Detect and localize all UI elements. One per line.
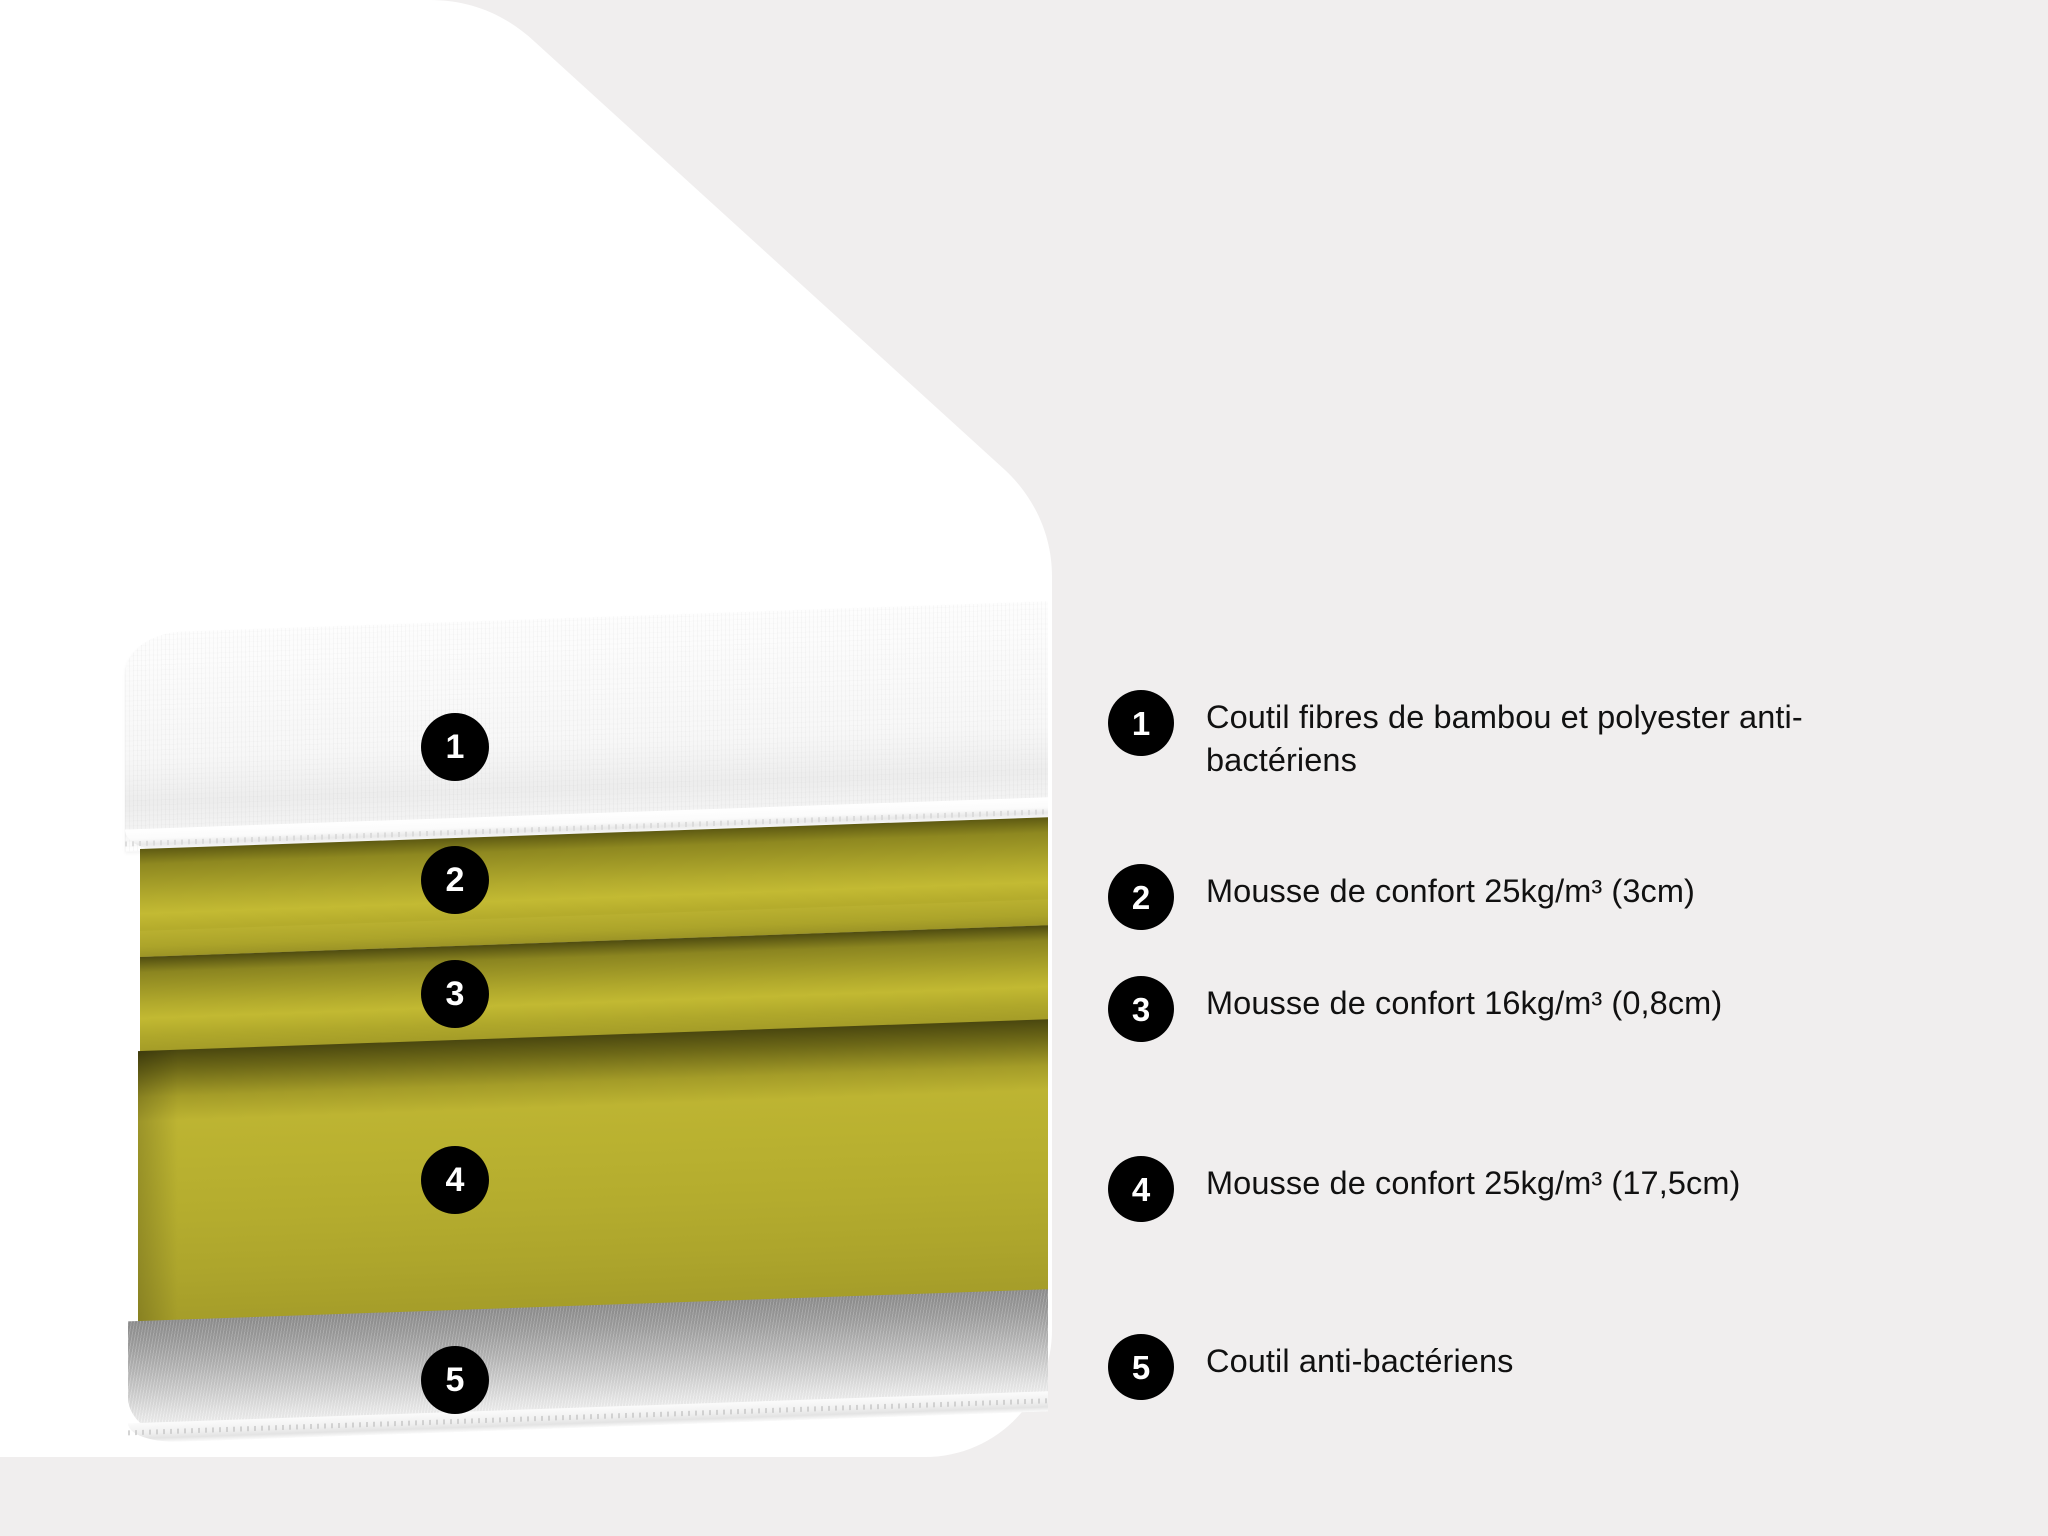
legend-badge-2: 2 <box>1108 864 1174 930</box>
mattress-illustration <box>0 0 1048 1536</box>
legend-badge-4: 4 <box>1108 1156 1174 1222</box>
legend-item-4: 4 Mousse de confort 25kg/m³ (17,5cm) <box>1108 1156 1740 1222</box>
mattress-badge-3: 3 <box>421 960 489 1028</box>
legend-badge-5: 5 <box>1108 1334 1174 1400</box>
mattress-badge-4: 4 <box>421 1146 489 1214</box>
legend-item-2: 2 Mousse de confort 25kg/m³ (3cm) <box>1108 864 1695 930</box>
legend-label-5: Coutil anti-bactériens <box>1206 1334 1514 1383</box>
mattress-badge-1: 1 <box>421 713 489 781</box>
legend-badge-3: 3 <box>1108 976 1174 1042</box>
legend-label-4: Mousse de confort 25kg/m³ (17,5cm) <box>1206 1156 1740 1205</box>
legend-item-1: 1 Coutil fibres de bambou et polyester a… <box>1108 690 1946 782</box>
mattress-badge-2: 2 <box>421 846 489 914</box>
legend-label-3: Mousse de confort 16kg/m³ (0,8cm) <box>1206 976 1722 1025</box>
mattress-layer-1-top-cover <box>125 600 1048 852</box>
legend-label-1: Coutil fibres de bambou et polyester ant… <box>1206 690 1946 782</box>
foam-left-bevel <box>138 1050 178 1323</box>
legend-item-3: 3 Mousse de confort 16kg/m³ (0,8cm) <box>1108 976 1722 1042</box>
legend-label-2: Mousse de confort 25kg/m³ (3cm) <box>1206 864 1695 913</box>
legend-badge-1: 1 <box>1108 690 1174 756</box>
mattress-badge-5: 5 <box>421 1346 489 1414</box>
legend-item-5: 5 Coutil anti-bactériens <box>1108 1334 1514 1400</box>
mattress-layer-4-foam-core <box>138 1018 1048 1323</box>
